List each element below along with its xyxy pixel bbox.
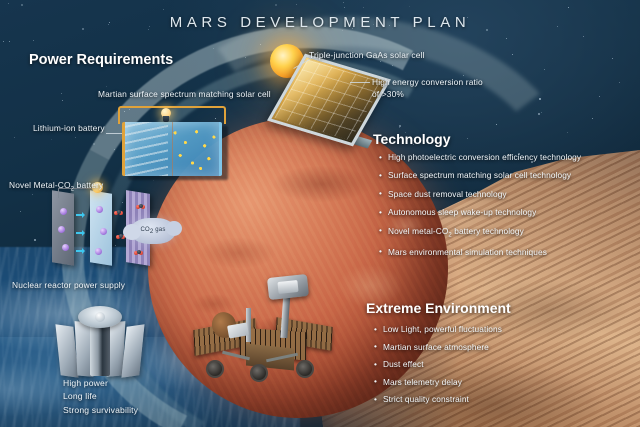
co2-molecule — [134, 250, 143, 255]
ion-particle — [62, 244, 69, 251]
star — [296, 4, 297, 5]
rover-wheel — [296, 360, 314, 378]
list-item: High photoelectric conversion efficiency… — [379, 152, 581, 162]
section-heading-technology: Technology — [373, 131, 451, 147]
battery-circuit-wire — [118, 106, 226, 124]
mars-development-plan-poster: CO2 gas MARS DEVELOPMENT PLAN Power Requ… — [0, 0, 640, 427]
star — [75, 137, 76, 138]
star — [153, 180, 154, 181]
ion-flow-arrow — [76, 248, 88, 253]
star — [506, 38, 507, 39]
page-title: MARS DEVELOPMENT PLAN — [0, 14, 640, 31]
star — [344, 7, 345, 8]
star — [163, 9, 164, 10]
star — [61, 93, 62, 94]
star — [512, 54, 513, 55]
leader-line-lithium — [106, 133, 122, 134]
label-surface-solar-cell: Martian surface spectrum matching solar … — [98, 88, 271, 100]
mars-rover-illustration — [190, 268, 336, 386]
co2-gas-label: CO2 gas — [140, 227, 165, 235]
star — [467, 138, 468, 139]
star — [260, 44, 261, 45]
co2-gas-cloud: CO2 gas — [130, 218, 176, 244]
ion-flow-arrow — [76, 212, 88, 217]
lithium-ion-battery-illustration — [122, 122, 222, 176]
label-triple-junction-cell: Triple-junction GaAs solar cell — [309, 49, 425, 61]
star — [245, 57, 246, 58]
ion-particle — [60, 208, 67, 215]
list-item: Surface spectrum matching solar cell tec… — [379, 170, 581, 180]
technology-list: High photoelectric conversion efficiency… — [379, 152, 581, 265]
star — [275, 4, 277, 6]
star — [541, 112, 542, 113]
star — [544, 69, 545, 70]
co2-molecule — [136, 204, 145, 209]
star — [392, 65, 393, 66]
list-item: Mars telemetry delay — [374, 377, 502, 387]
bulb-base — [163, 116, 169, 122]
ion-particle — [58, 226, 65, 233]
list-item: Autonomous sleep wake-up technology — [379, 207, 581, 217]
label-nuclear-reactor: Nuclear reactor power supply — [12, 279, 125, 291]
star — [33, 40, 34, 41]
star — [567, 132, 568, 133]
list-item: Dust effect — [374, 359, 502, 369]
star — [599, 96, 600, 97]
rover-camera-head — [267, 274, 309, 300]
section-heading-power: Power Requirements — [29, 52, 173, 68]
star — [14, 137, 15, 138]
ion-particle — [100, 228, 107, 235]
leader-line-conversion — [350, 82, 370, 83]
label-lithium-ion-battery: Lithium-ion battery — [33, 122, 105, 134]
list-item: Mars environmental simulation techniques — [379, 247, 581, 257]
ion-flow-arrow — [76, 230, 88, 235]
star — [9, 41, 10, 42]
section-heading-extreme-environment: Extreme Environment — [366, 300, 511, 316]
ion-particle — [95, 248, 102, 255]
star — [612, 58, 613, 59]
rover-wheel — [250, 364, 268, 382]
star — [363, 7, 364, 8]
star — [409, 6, 410, 7]
list-item: Low Light, powerful fluctuations — [374, 324, 502, 334]
star — [20, 211, 21, 212]
star — [106, 86, 107, 87]
star — [93, 143, 95, 145]
star — [619, 82, 620, 83]
star — [539, 98, 541, 100]
star — [538, 113, 540, 115]
star — [592, 118, 593, 119]
label-metal-co2-battery: Novel Metal-CO2 battery — [9, 179, 103, 194]
reactor-dish — [78, 306, 122, 328]
star — [3, 41, 4, 42]
star — [51, 139, 52, 140]
star — [21, 4, 23, 6]
list-item: Martian surface atmosphere — [374, 342, 502, 352]
list-item: Space dust removal technology — [379, 189, 581, 199]
nuclear-reactor-illustration — [56, 300, 142, 382]
battery-body — [122, 122, 222, 176]
star — [399, 127, 400, 128]
star — [343, 2, 344, 3]
star — [8, 3, 9, 4]
solar-panel-illustration — [286, 62, 372, 138]
star — [114, 149, 115, 150]
lightbulb-icon — [160, 108, 172, 123]
star — [399, 125, 401, 127]
list-item: Strict quality constraint — [374, 394, 502, 404]
star — [568, 7, 569, 8]
ion-particle — [96, 206, 103, 213]
radiator-fin — [121, 324, 144, 378]
star — [34, 239, 36, 241]
rover-wheel — [206, 360, 224, 378]
list-item: Novel metal-CO2 battery technology — [379, 226, 581, 239]
star — [380, 61, 381, 62]
star — [496, 124, 497, 125]
label-power-properties: High power Long life Strong survivabilit… — [63, 377, 138, 417]
battery-separator — [172, 122, 173, 176]
star — [213, 48, 214, 49]
label-conversion-ratio: High energy conversion ratio of >30% — [372, 76, 484, 100]
co2-molecule — [114, 210, 123, 215]
star — [62, 100, 63, 101]
extreme-environment-list: Low Light, powerful fluctuationsMartian … — [374, 324, 502, 412]
star — [583, 36, 584, 37]
